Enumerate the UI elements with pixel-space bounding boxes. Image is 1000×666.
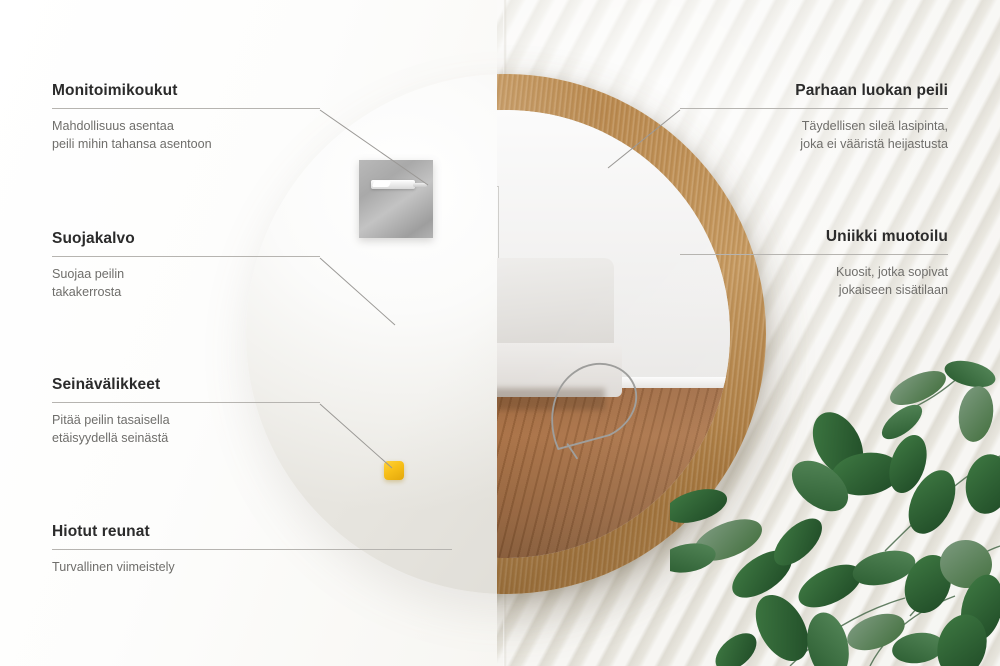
callout-mounting-hooks: Monitoimikoukut Mahdollisuus asentaa pei… — [52, 82, 320, 154]
green-leaves-plant — [670, 336, 1000, 666]
callout-rule — [680, 254, 948, 255]
hook-slot — [371, 180, 415, 189]
callout-rule — [52, 549, 452, 550]
callout-title: Hiotut reunat — [52, 523, 452, 540]
callout-body: Suojaa peilin takakerrosta — [52, 266, 320, 302]
callout-rule — [52, 108, 320, 109]
callout-title: Parhaan luokan peili — [680, 82, 948, 99]
callout-body: Kuosit, jotka sopivat jokaiseen sisätila… — [740, 264, 948, 300]
callout-body: Täydellisen sileä lasipinta, joka ei vää… — [680, 118, 948, 154]
callout-title: Uniikki muotoilu — [740, 228, 948, 245]
callout-rule — [680, 108, 948, 109]
callout-unique-design: Uniikki muotoilu Kuosit, jotka sopivat j… — [740, 228, 948, 300]
callout-protective-film: Suojakalvo Suojaa peilin takakerrosta — [52, 230, 320, 302]
callout-title: Seinävälikkeet — [52, 376, 320, 393]
yellow-wall-spacer — [384, 461, 404, 480]
hook-bar — [413, 183, 427, 187]
callout-body: Mahdollisuus asentaa peili mihin tahansa… — [52, 118, 320, 154]
callout-wall-spacers: Seinävälikkeet Pitää peilin tasaisella e… — [52, 376, 320, 448]
infographic-canvas: Monitoimikoukut Mahdollisuus asentaa pei… — [0, 0, 1000, 666]
callout-rule — [52, 256, 320, 257]
callout-title: Suojakalvo — [52, 230, 320, 247]
callout-body: Turvallinen viimeistely — [52, 559, 452, 577]
callout-rule — [52, 402, 320, 403]
callout-title: Monitoimikoukut — [52, 82, 320, 99]
callout-polished-edges: Hiotut reunat Turvallinen viimeistely — [52, 523, 452, 577]
callout-best-class-mirror: Parhaan luokan peili Täydellisen sileä l… — [680, 82, 948, 154]
callout-body: Pitää peilin tasaisella etäisyydellä sei… — [52, 412, 320, 448]
reflected-wire-chair — [542, 334, 658, 468]
mounting-hook-plate — [359, 160, 433, 238]
